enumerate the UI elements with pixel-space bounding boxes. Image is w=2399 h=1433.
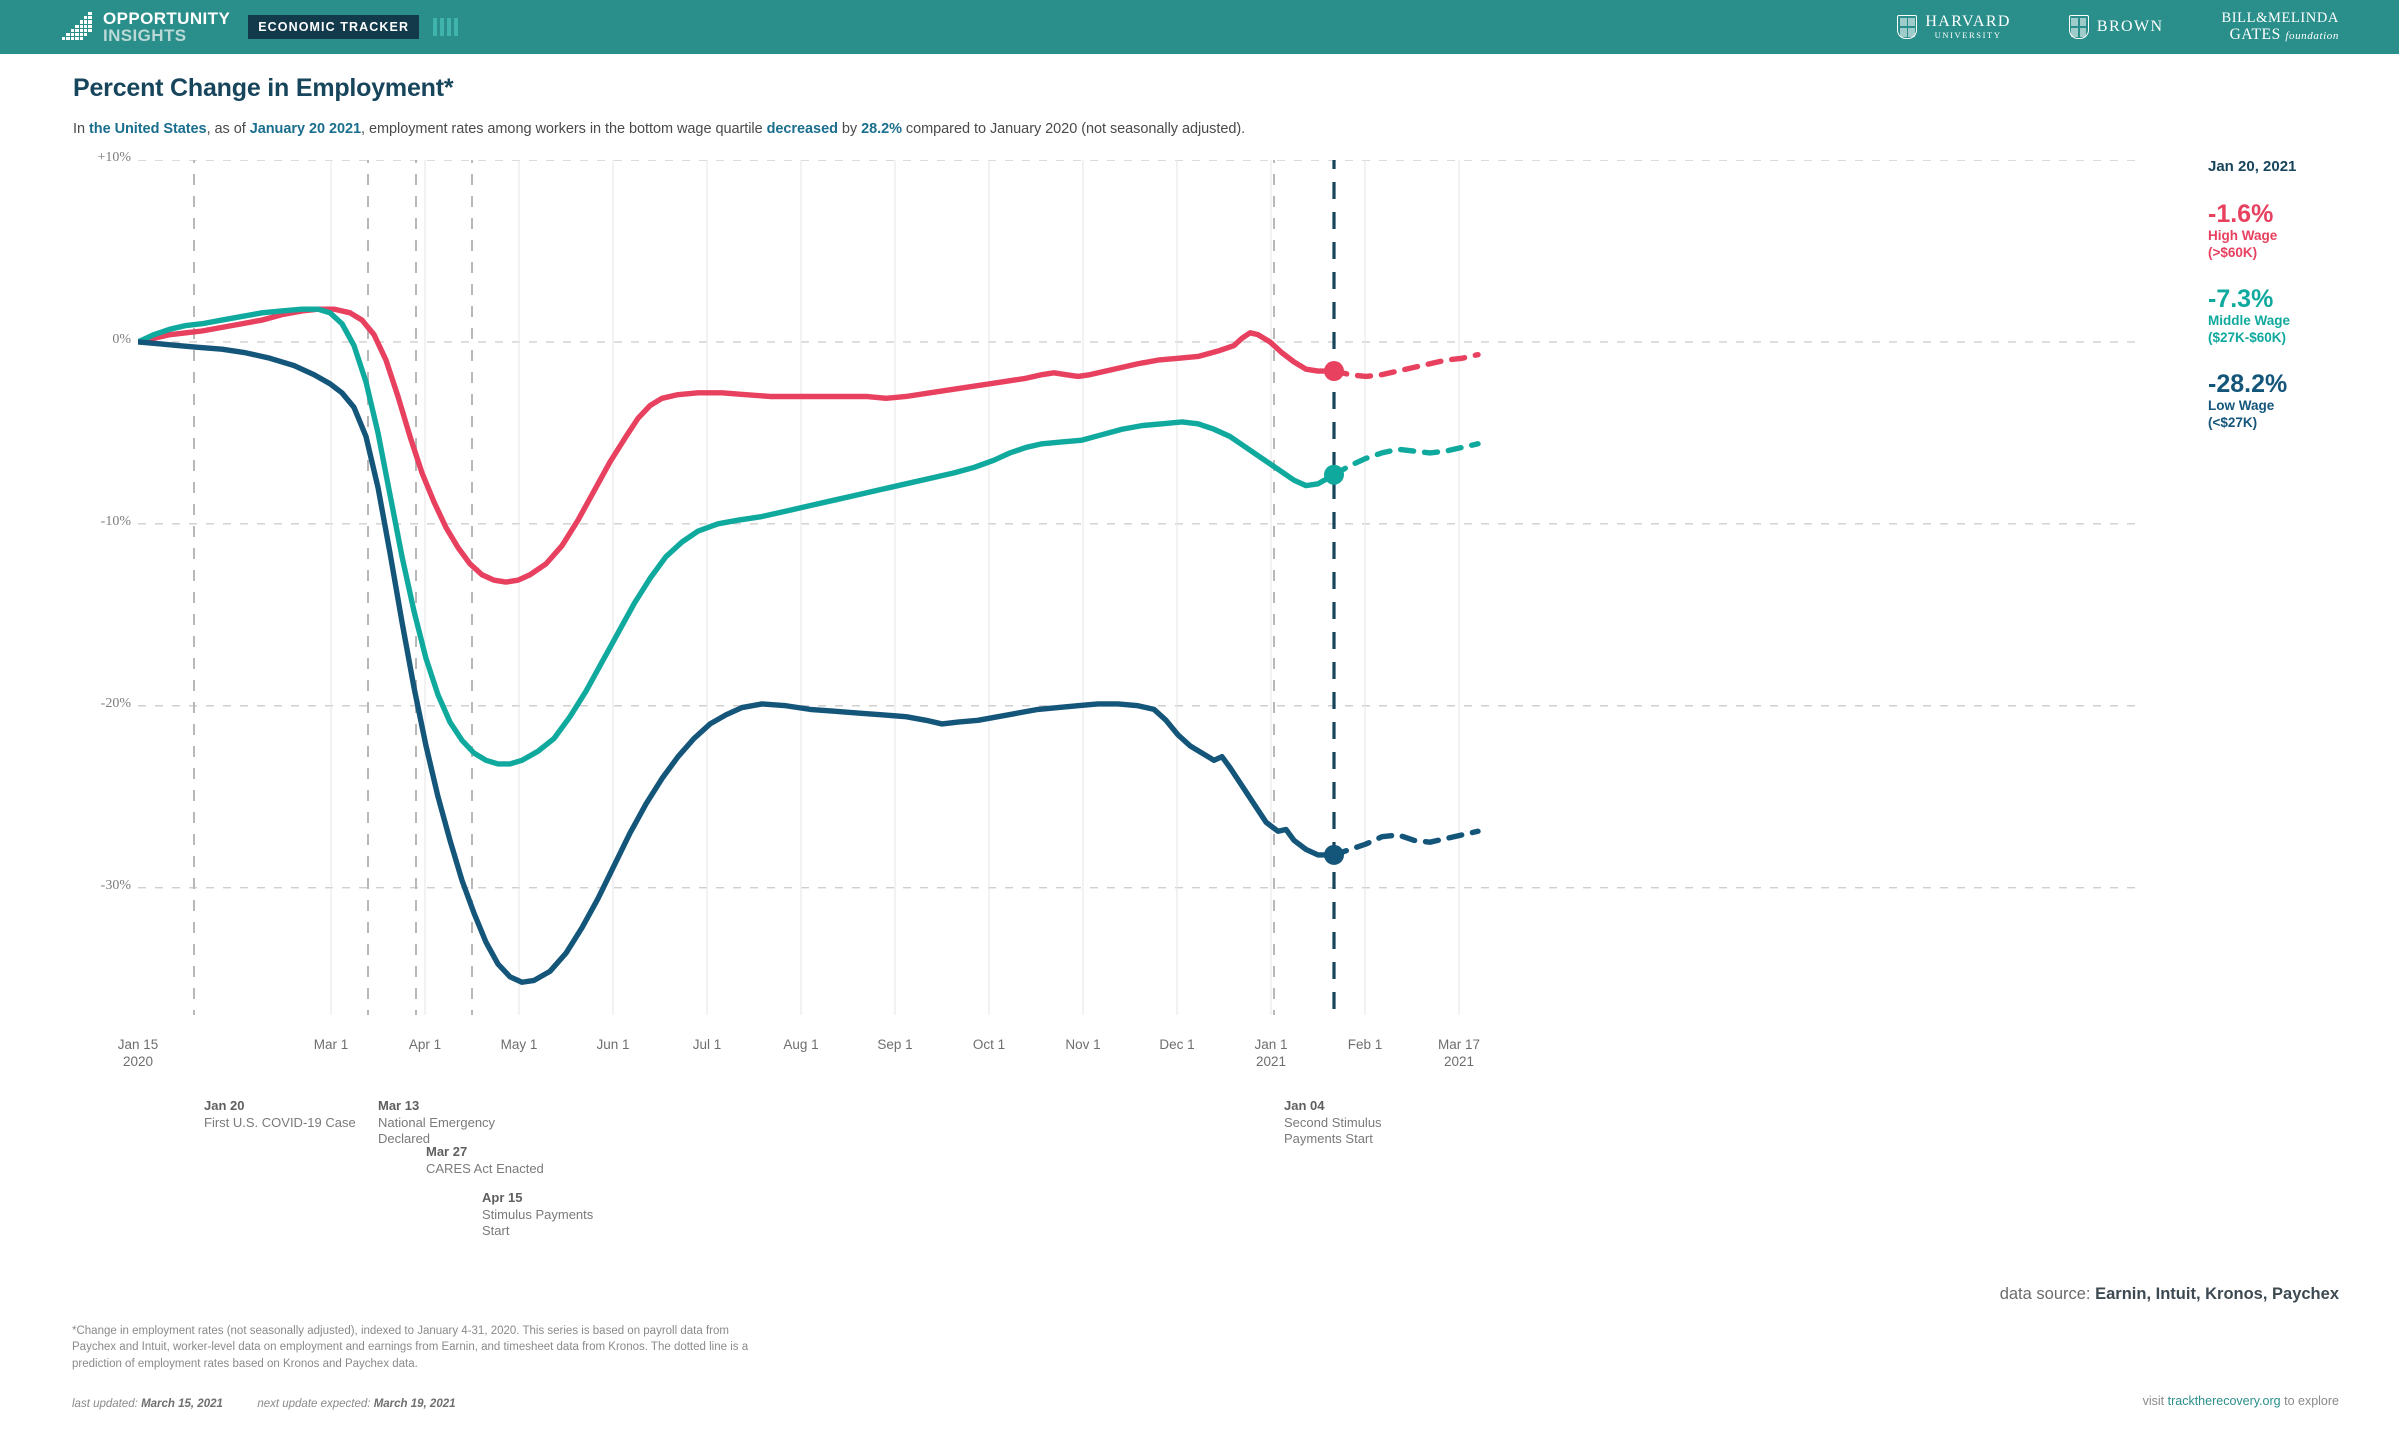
- x-tick-main: Aug 1: [783, 1037, 818, 1052]
- update-info: last updated: March 15, 2021 next update…: [72, 1398, 456, 1410]
- x-tick-main: Nov 1: [1065, 1037, 1100, 1052]
- x-tick-main: Mar 1: [314, 1037, 349, 1052]
- subtitle-asof-date[interactable]: January 20 2021: [250, 121, 361, 137]
- subtitle-direction: decreased: [767, 121, 838, 137]
- series-line-predicted: [1334, 444, 1478, 475]
- x-tick-main: Jan 1: [1254, 1037, 1287, 1052]
- tracker-bars-icon: [433, 18, 458, 36]
- series-line-actual: [138, 342, 1334, 982]
- subtitle-part-5: compared to January 2020 (not seasonally…: [902, 121, 1245, 137]
- page-subtitle: In the United States, as of January 20 2…: [73, 121, 1245, 137]
- x-tick-main: Feb 1: [1348, 1037, 1383, 1052]
- economic-tracker-label: ECONOMIC TRACKER: [258, 20, 409, 34]
- gates-line-2: GATES: [2230, 26, 2281, 43]
- event-date: Apr 15: [482, 1190, 712, 1207]
- legend-series-name: High Wage(>$60K): [2208, 228, 2398, 261]
- brown-logo[interactable]: BROWN: [2069, 15, 2164, 39]
- harvard-name: HARVARD: [1925, 14, 2011, 31]
- y-tick-label: -10%: [11, 514, 131, 530]
- x-tick-main: Dec 1: [1159, 1037, 1194, 1052]
- tracktherecovery-link[interactable]: tracktherecovery.org: [2168, 1394, 2281, 1408]
- subtitle-part-4: by: [838, 121, 861, 137]
- legend-date-header: Jan 20, 2021: [2208, 158, 2398, 175]
- site-header: OPPORTUNITY INSIGHTS ECONOMIC TRACKER HA…: [0, 0, 2399, 54]
- subtitle-region[interactable]: the United States: [89, 121, 207, 137]
- event-date: Mar 27: [426, 1144, 656, 1161]
- chart-footnote: *Change in employment rates (not seasona…: [72, 1323, 772, 1372]
- x-tick-sub: 2021: [1444, 1054, 1474, 1069]
- event-date: Jan 04: [1284, 1098, 1514, 1115]
- legend-series-name: Middle Wage($27K-$60K): [2208, 313, 2398, 346]
- x-tick-label: Jan 152020: [68, 1037, 208, 1071]
- brand-line-1: OPPORTUNITY: [103, 10, 230, 27]
- event-desc-line1: CARES Act Enacted: [426, 1161, 544, 1176]
- event-desc-line1: Stimulus Payments: [482, 1207, 593, 1222]
- series-legend: Jan 20, 2021 -1.6%High Wage(>$60K)-7.3%M…: [2208, 158, 2398, 457]
- employment-chart: +10%0%-10%-20%-30% Jan 152020Mar 1Apr 1M…: [0, 150, 2399, 1070]
- event-desc-line1: National Emergency: [378, 1115, 495, 1130]
- last-updated-label: last updated:: [72, 1398, 138, 1410]
- x-tick-main: Jun 1: [596, 1037, 629, 1052]
- y-tick-label: -20%: [11, 696, 131, 712]
- visit-suffix: to explore: [2281, 1394, 2339, 1408]
- subtitle-amount: 28.2%: [861, 121, 902, 137]
- series-line-predicted: [1334, 355, 1478, 377]
- y-tick-label: -30%: [11, 878, 131, 894]
- gates-foundation-word: foundation: [2285, 30, 2339, 42]
- brown-name: BROWN: [2097, 19, 2164, 36]
- x-tick-main: Oct 1: [973, 1037, 1005, 1052]
- visit-line: visit tracktherecovery.org to explore: [2143, 1394, 2339, 1408]
- x-tick-label: Mar 172021: [1389, 1037, 1529, 1071]
- x-tick-sub: 2021: [1256, 1054, 1286, 1069]
- event-date: Mar 13: [378, 1098, 608, 1115]
- event-desc-line1: Second Stimulus: [1284, 1115, 1382, 1130]
- x-tick-sub: 2020: [123, 1054, 153, 1069]
- x-tick-main: Jan 15: [118, 1037, 159, 1052]
- series-endpoint-marker: [1324, 845, 1344, 865]
- y-tick-label: +10%: [11, 150, 131, 166]
- event-desc-line2: Start: [482, 1223, 509, 1238]
- legend-item[interactable]: -28.2%Low Wage(<$27K): [2208, 371, 2398, 431]
- y-tick-label: 0%: [11, 332, 131, 348]
- x-tick-main: Mar 17: [1438, 1037, 1480, 1052]
- plot-area: [138, 160, 2138, 1015]
- opportunity-insights-mark-icon: [62, 12, 96, 42]
- event-desc-line2: Payments Start: [1284, 1131, 1373, 1146]
- x-tick-main: Sep 1: [877, 1037, 912, 1052]
- next-update-label: next update expected:: [257, 1398, 370, 1410]
- event-annotation: Mar 13National EmergencyDeclared: [378, 1098, 608, 1148]
- legend-item[interactable]: -1.6%High Wage(>$60K): [2208, 201, 2398, 261]
- legend-items: -1.6%High Wage(>$60K)-7.3%Middle Wage($2…: [2208, 201, 2398, 432]
- data-source: data source: Earnin, Intuit, Kronos, Pay…: [2000, 1285, 2339, 1304]
- brand-line-2: INSIGHTS: [103, 27, 230, 44]
- data-source-label: data source:: [2000, 1285, 2091, 1303]
- opportunity-insights-logo[interactable]: OPPORTUNITY INSIGHTS ECONOMIC TRACKER: [62, 8, 458, 46]
- event-annotation: Mar 27CARES Act Enacted: [426, 1144, 656, 1177]
- visit-prefix: visit: [2143, 1394, 2168, 1408]
- legend-value: -28.2%: [2208, 371, 2398, 398]
- event-desc-line2: Declared: [378, 1131, 430, 1146]
- event-desc-line1: First U.S. COVID-19 Case: [204, 1115, 356, 1130]
- series-line-predicted: [1334, 831, 1478, 855]
- harvard-logo[interactable]: HARVARD UNIVERSITY: [1897, 14, 2011, 40]
- opportunity-insights-wordmark: OPPORTUNITY INSIGHTS: [103, 10, 230, 44]
- series-line-actual: [138, 309, 1334, 582]
- legend-series-name: Low Wage(<$27K): [2208, 398, 2398, 431]
- x-tick-main: May 1: [501, 1037, 538, 1052]
- legend-item[interactable]: -7.3%Middle Wage($27K-$60K): [2208, 286, 2398, 346]
- page-title: Percent Change in Employment*: [73, 74, 453, 103]
- gates-line-1: BILL&MELINDA: [2221, 11, 2339, 27]
- partner-logos: HARVARD UNIVERSITY BROWN BILL&MELINDA GA…: [1897, 0, 2339, 54]
- subtitle-part-1: In: [73, 121, 89, 137]
- last-updated-value: March 15, 2021: [141, 1398, 223, 1410]
- x-tick-main: Jul 1: [693, 1037, 722, 1052]
- subtitle-part-3: , employment rates among workers in the …: [361, 121, 767, 137]
- event-annotation: Jan 04Second StimulusPayments Start: [1284, 1098, 1514, 1148]
- gates-foundation-logo[interactable]: BILL&MELINDA GATES foundation: [2221, 11, 2339, 44]
- harvard-sub: UNIVERSITY: [1925, 31, 2011, 40]
- harvard-shield-icon: [1897, 15, 1917, 39]
- event-annotation: Apr 15Stimulus PaymentsStart: [482, 1190, 712, 1240]
- legend-value: -1.6%: [2208, 201, 2398, 228]
- legend-value: -7.3%: [2208, 286, 2398, 313]
- subtitle-part-2: , as of: [207, 121, 250, 137]
- economic-tracker-badge[interactable]: ECONOMIC TRACKER: [248, 15, 419, 39]
- x-tick-main: Apr 1: [409, 1037, 441, 1052]
- data-source-value: Earnin, Intuit, Kronos, Paychex: [2095, 1285, 2339, 1303]
- next-update-value: March 19, 2021: [374, 1398, 456, 1410]
- series-endpoint-marker: [1324, 361, 1344, 381]
- series-endpoint-marker: [1324, 465, 1344, 485]
- brown-shield-icon: [2069, 15, 2089, 39]
